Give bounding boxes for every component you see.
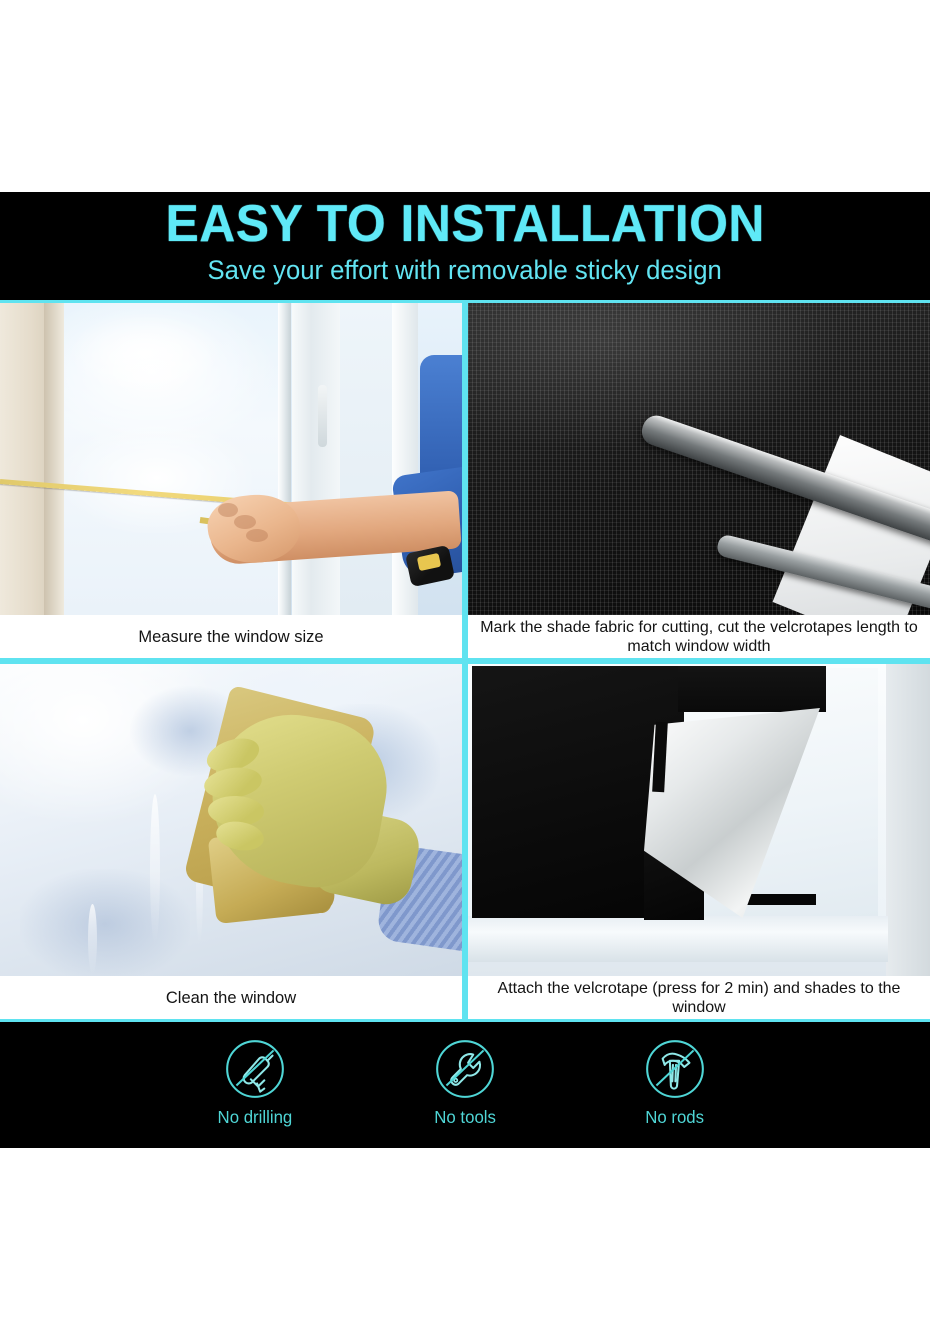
step-card-measure: Measure the window size xyxy=(0,303,462,658)
badge-label: No drilling xyxy=(218,1107,293,1128)
photo-cut-fabric xyxy=(468,303,930,615)
photo-clean-window xyxy=(0,664,462,976)
velcro-strip-horizontal xyxy=(740,894,816,905)
step-caption: Clean the window xyxy=(0,976,462,1019)
badge-no-tools: No tools xyxy=(406,1036,524,1128)
step-card-attach-shade: Attach the velcrotape (press for 2 min) … xyxy=(468,664,930,1019)
wrench-icon xyxy=(432,1036,498,1102)
step-caption: Mark the shade fabric for cutting, cut t… xyxy=(468,615,930,658)
features-footer: No drilling No tools xyxy=(0,1022,930,1148)
badge-no-drilling: No drilling xyxy=(196,1036,314,1128)
step-card-clean-window: Clean the window xyxy=(0,664,462,1019)
header-banner: EASY TO INSTALLATION Save your effort wi… xyxy=(0,192,930,300)
badge-no-rods: No rods xyxy=(616,1036,734,1128)
product-infographic: EASY TO INSTALLATION Save your effort wi… xyxy=(0,0,930,1320)
page-subtitle: Save your effort with removable sticky d… xyxy=(208,254,722,286)
photo-attach-shade xyxy=(468,664,930,976)
step-caption: Measure the window size xyxy=(0,615,462,658)
window-handle-icon xyxy=(318,385,327,447)
step-card-cut-fabric: Mark the shade fabric for cutting, cut t… xyxy=(468,303,930,658)
badge-label: No rods xyxy=(646,1107,705,1128)
page-title: EASY TO INSTALLATION xyxy=(165,196,764,252)
drill-icon xyxy=(222,1036,288,1102)
hammer-icon xyxy=(642,1036,708,1102)
badge-row: No drilling No tools xyxy=(0,1036,930,1128)
step-caption: Attach the velcrotape (press for 2 min) … xyxy=(468,976,930,1019)
badge-label: No tools xyxy=(434,1107,496,1128)
photo-measure-window xyxy=(0,303,462,615)
steps-grid: Measure the window size Mark the shade f… xyxy=(0,300,930,1022)
